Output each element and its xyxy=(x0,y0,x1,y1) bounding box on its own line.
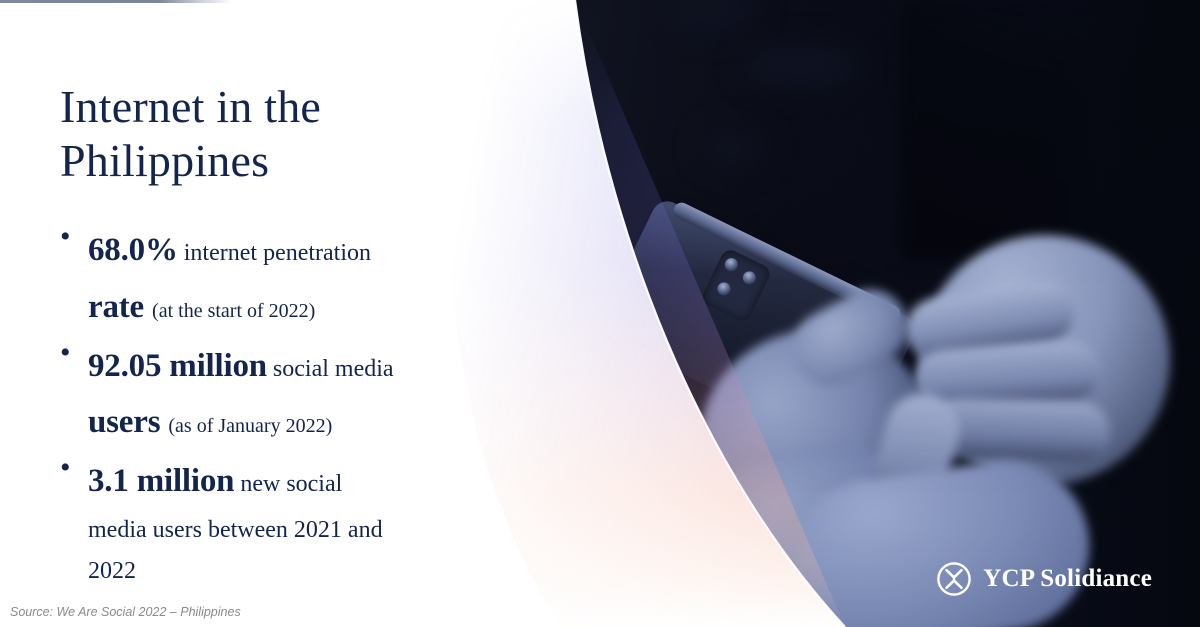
bullet-marker: • xyxy=(60,222,71,252)
list-item: • 68.0% internet penetration rate (at th… xyxy=(44,222,564,336)
list-item-line: 92.05 million social media xyxy=(88,338,564,395)
stat-label-cont: users xyxy=(88,404,168,440)
page-title: Internet in the Philippines xyxy=(60,80,490,189)
stat-value: 92.05 million xyxy=(88,348,267,384)
stat-label: new social xyxy=(234,471,342,497)
list-item: • 92.05 million social media users (as o… xyxy=(44,338,564,452)
stat-label: social media xyxy=(267,356,394,382)
bullet-list: • 68.0% internet penetration rate (at th… xyxy=(44,222,564,594)
list-item-line: rate (at the start of 2022) xyxy=(88,279,564,336)
list-item-line: 3.1 million new social xyxy=(88,453,564,510)
bullet-marker: • xyxy=(60,453,71,483)
bullet-marker: • xyxy=(60,338,71,368)
text-column: Internet in the Philippines • 68.0% inte… xyxy=(0,0,560,627)
list-item-line: 2022 xyxy=(88,551,564,592)
source-note: Source: We Are Social 2022 – Philippines xyxy=(10,605,241,619)
list-item-line: users (as of January 2022) xyxy=(88,394,564,451)
list-item-line: 68.0% internet penetration xyxy=(88,222,564,279)
stat-value: 68.0% xyxy=(88,232,178,268)
stat-label: internet penetration xyxy=(178,240,371,266)
stat-value: 3.1 million xyxy=(88,463,234,499)
stat-note: (at the start of 2022) xyxy=(152,300,315,322)
slide-canvas: Internet in the Philippines • 68.0% inte… xyxy=(0,0,1200,627)
list-item: • 3.1 million new social media users bet… xyxy=(44,453,564,592)
stat-note: (as of January 2022) xyxy=(168,415,332,437)
brand-logo: YCP Solidiance xyxy=(936,561,1152,597)
page-title-line-1: Internet in the xyxy=(60,80,490,134)
brand-logo-text: YCP Solidiance xyxy=(983,565,1152,593)
page-title-line-2: Philippines xyxy=(60,134,490,188)
top-accent-bar xyxy=(0,0,232,3)
ycp-circle-y-icon xyxy=(936,561,972,597)
stat-label-cont: rate xyxy=(88,289,152,325)
list-item-line: media users between 2021 and xyxy=(88,510,564,551)
